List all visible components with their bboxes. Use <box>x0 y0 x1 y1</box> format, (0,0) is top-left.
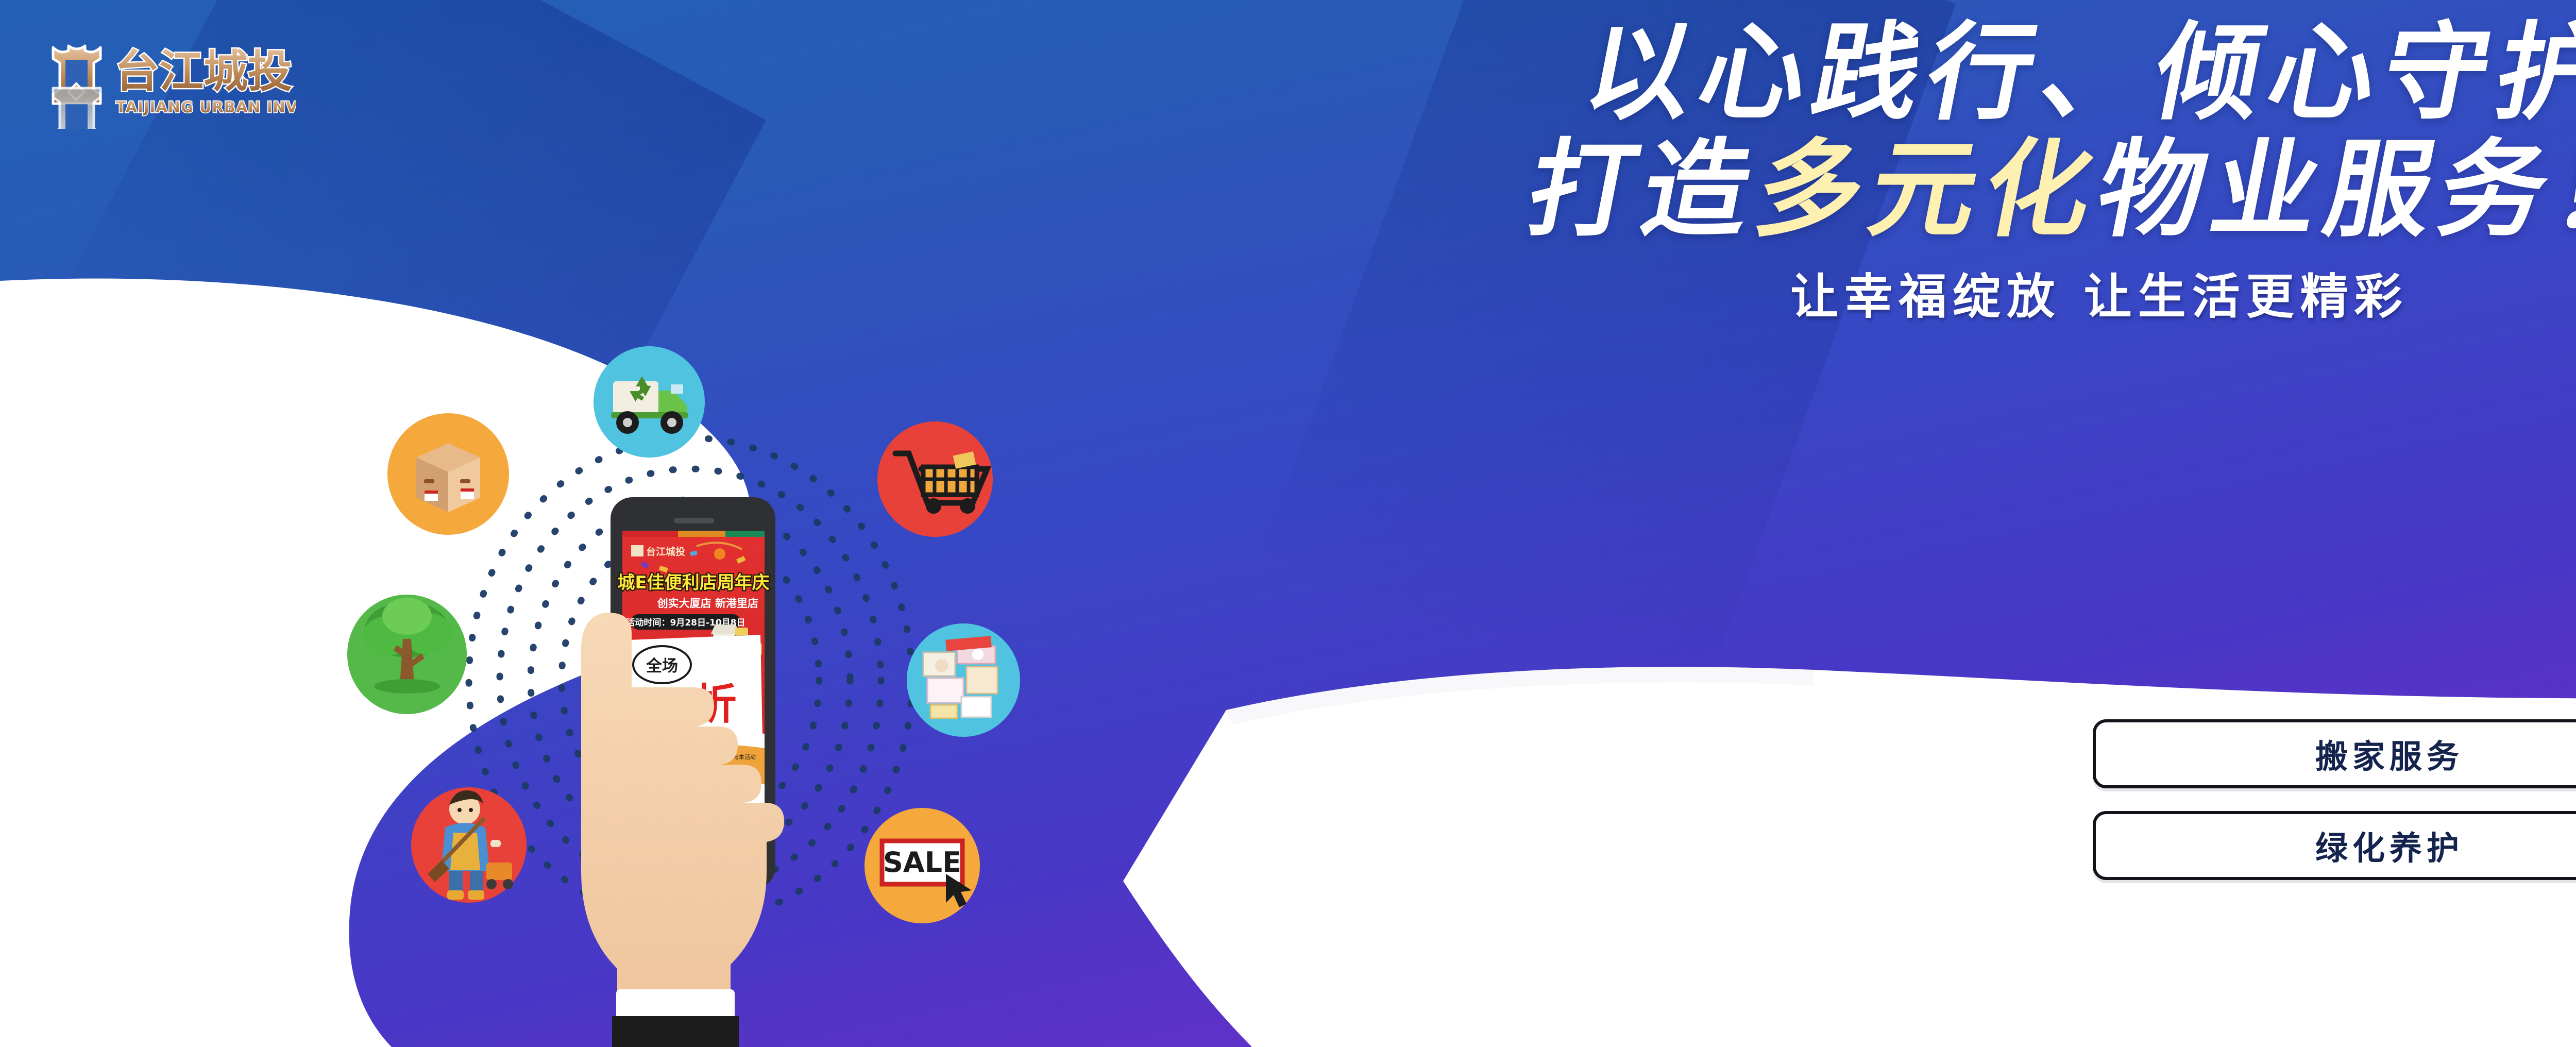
headline-subtitle: 让幸福绽放 让生活更精彩 <box>1159 273 2576 321</box>
service-buttons-grid: 搬家服务 商品零售 家政服务 绿化养护 停车服务 环境卫生 <box>2093 719 2576 880</box>
service-button-landscaping[interactable]: 绿化养护 <box>2093 811 2576 880</box>
icon-cleaner-worker <box>411 787 527 903</box>
service-label: 绿化养护 <box>2315 822 2464 869</box>
package-box-icon <box>416 443 480 512</box>
service-button-moving[interactable]: 搬家服务 <box>2093 719 2576 788</box>
icon-gift-hamper <box>907 623 1020 737</box>
icon-package-box <box>387 413 509 535</box>
headline-line-2-emphasis: 多元化 <box>1746 129 2111 251</box>
headline-line-2-pre: 打造 <box>1518 129 1770 251</box>
icon-shopping-cart <box>877 421 993 537</box>
icon-sale-tag: SALE <box>865 808 980 923</box>
brand-logo: 台江城投 TAIJIANG URBAN INVESTMENT <box>39 21 296 129</box>
headline-line-2-post: 物业服务！ <box>2088 129 2576 251</box>
poster-logo-text: 台江城投 <box>646 546 685 558</box>
headline-line-2: 打造多元化物业服务！ <box>1149 138 2576 243</box>
logo-en-text: TAIJIANG URBAN INVESTMENT <box>116 98 296 116</box>
poster-title: 城E佳便利店周年庆 <box>617 572 769 593</box>
icon-tree <box>347 595 467 714</box>
service-label: 搬家服务 <box>2315 731 2464 778</box>
pagoda-emblem-icon <box>53 46 100 129</box>
icon-recycle-truck <box>594 346 705 458</box>
company-name: 福州顺佳物业管理有限公司 <box>2093 959 2576 1010</box>
phone-illustration-cluster: 台江城投 城E佳便利店周年庆 创实大厦店 新港里店 活动时间：9月28日-10月… <box>330 325 1061 1047</box>
poster-badge: 全场 <box>646 657 678 676</box>
banner-root: 台江城投 TAIJIANG URBAN INVESTMENT 以心践行、倾心守护… <box>0 0 2576 1047</box>
headline-block: 以心践行、倾心守护 打造多元化物业服务！ 让幸福绽放 让生活更精彩 <box>1159 5 2576 321</box>
poster-stores: 创实大厦店 新港里店 <box>657 597 758 610</box>
headline-line-1: 以心践行、倾心守护 <box>1149 21 2576 126</box>
sale-tag-label: SALE <box>883 846 961 879</box>
logo-cn-text: 台江城投 <box>115 46 292 97</box>
